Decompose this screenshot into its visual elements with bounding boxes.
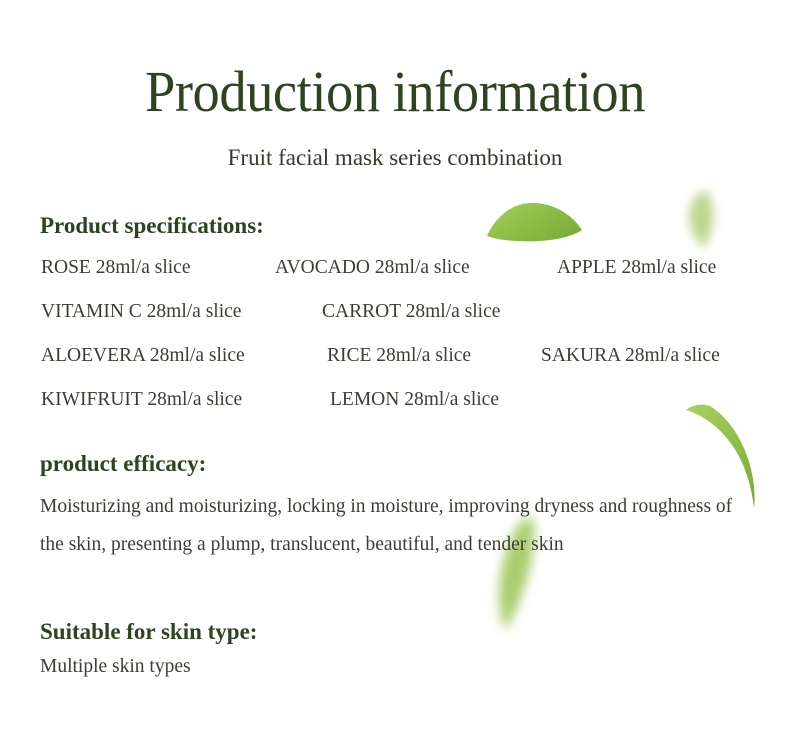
spec-row: ROSE 28ml/a slice AVOCADO 28ml/a slice A… — [0, 258, 790, 302]
product-specifications-heading: Product specifications: — [40, 212, 264, 240]
product-specifications-list: ROSE 28ml/a slice AVOCADO 28ml/a slice A… — [0, 258, 790, 434]
page-title: Production information — [24, 62, 767, 123]
spec-item: AVOCADO 28ml/a slice — [275, 258, 470, 278]
spec-item: CARROT 28ml/a slice — [322, 302, 500, 322]
spec-item: KIWIFRUIT 28ml/a slice — [41, 390, 242, 410]
spec-row: VITAMIN C 28ml/a slice CARROT 28ml/a sli… — [0, 302, 790, 346]
leaf-blur-top-right-icon — [676, 188, 732, 256]
suitable-skin-type-body: Multiple skin types — [40, 655, 191, 678]
spec-item: APPLE 28ml/a slice — [557, 258, 716, 278]
suitable-skin-type-heading: Suitable for skin type: — [40, 618, 257, 646]
spec-item: LEMON 28ml/a slice — [330, 390, 499, 410]
product-efficacy-heading: product efficacy: — [40, 450, 206, 478]
spec-row: KIWIFRUIT 28ml/a slice LEMON 28ml/a slic… — [0, 390, 790, 434]
spec-item: ALOEVERA 28ml/a slice — [41, 346, 245, 366]
spec-item: ROSE 28ml/a slice — [41, 258, 191, 278]
product-efficacy-body: Moisturizing and moisturizing, locking i… — [40, 488, 756, 564]
product-information-page: Production information Fruit facial mask… — [0, 0, 790, 738]
page-subtitle: Fruit facial mask series combination — [0, 144, 790, 172]
spec-item: RICE 28ml/a slice — [327, 346, 471, 366]
spec-item: SAKURA 28ml/a slice — [541, 346, 720, 366]
spec-item: VITAMIN C 28ml/a slice — [41, 302, 241, 322]
spec-row: ALOEVERA 28ml/a slice RICE 28ml/a slice … — [0, 346, 790, 390]
leaf-crescent-top-center-icon — [486, 200, 584, 244]
